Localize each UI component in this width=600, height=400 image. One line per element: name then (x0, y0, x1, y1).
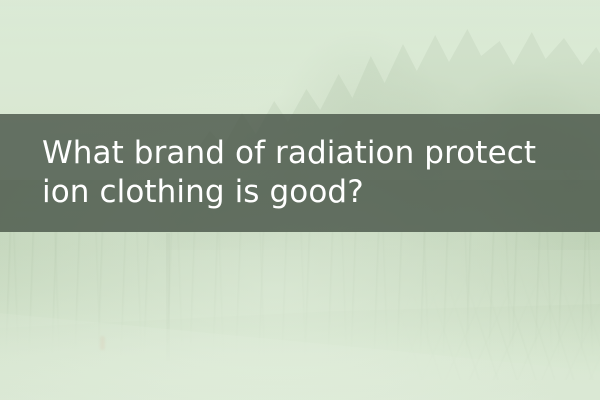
text-overlay-band: What brand of radiation protect ion clot… (0, 114, 600, 232)
screenshot-canvas: What brand of radiation protect ion clot… (0, 0, 600, 400)
question-title: What brand of radiation protect ion clot… (0, 134, 550, 212)
